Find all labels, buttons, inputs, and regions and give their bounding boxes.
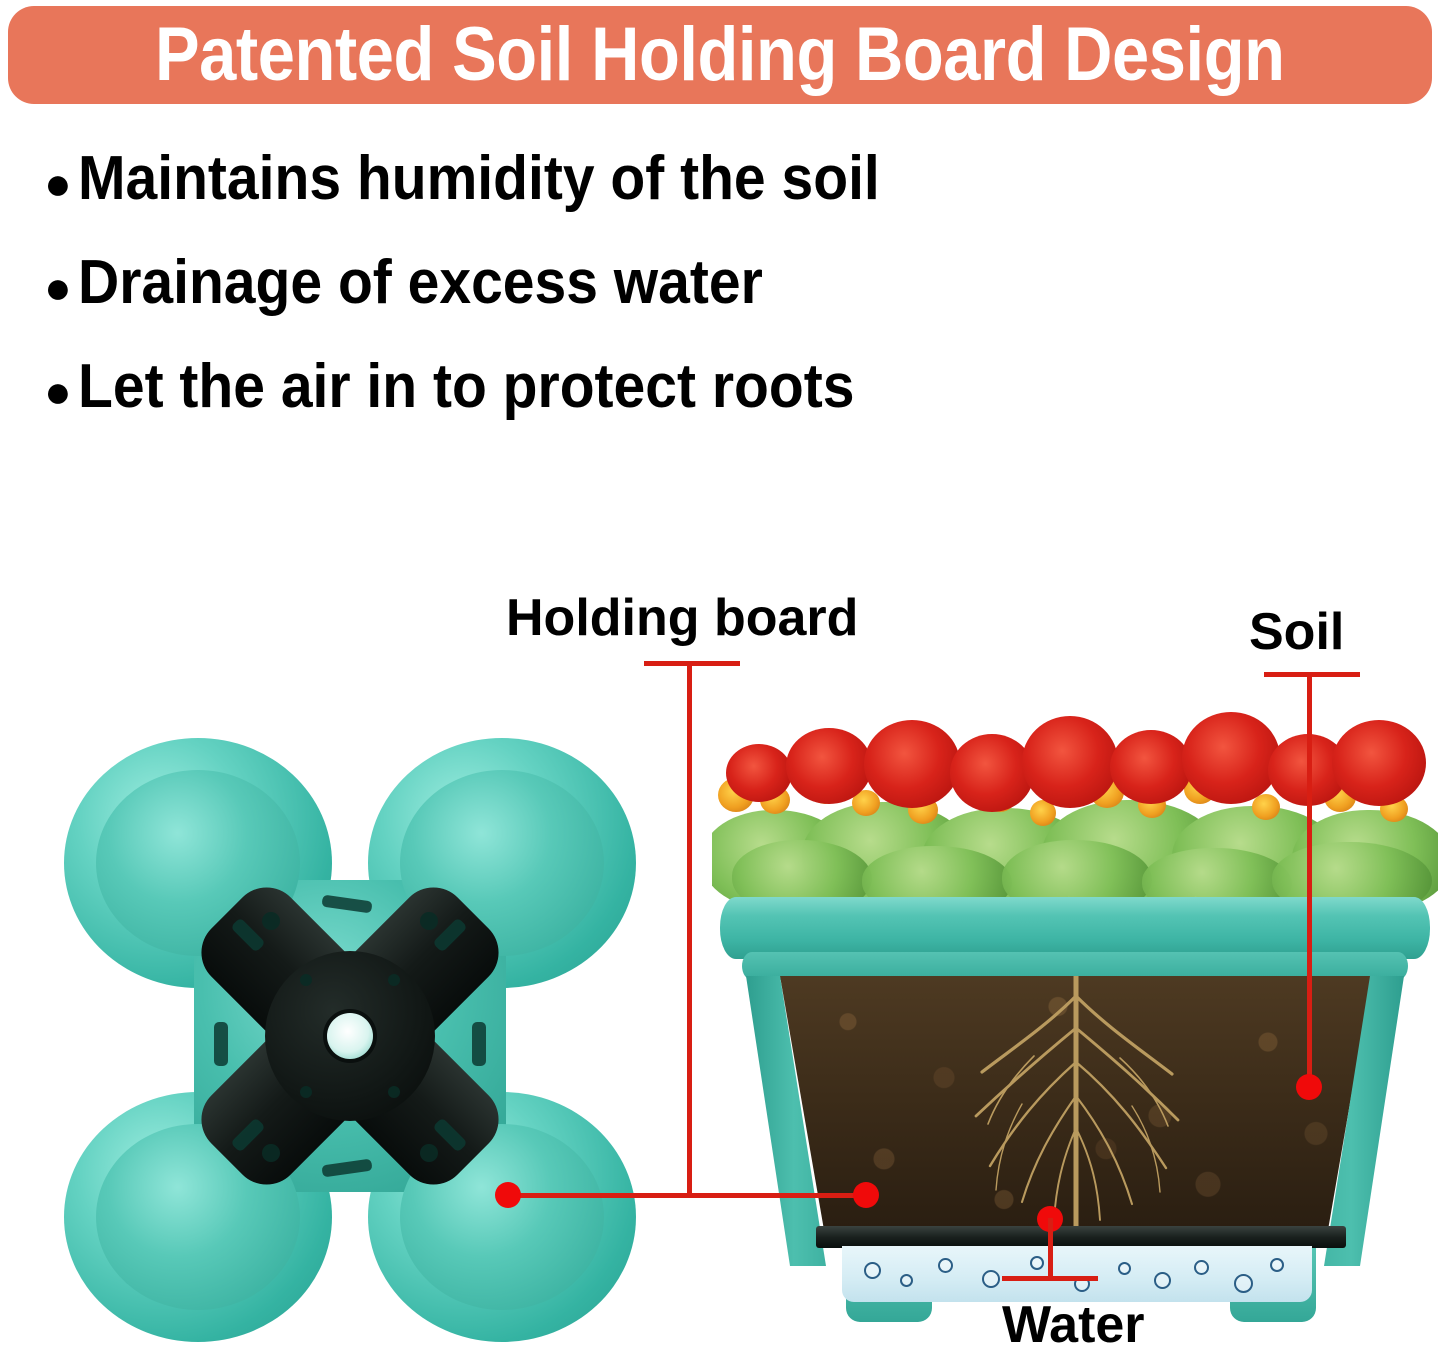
pot-body-cross-section: [746, 976, 1404, 1266]
holding-board-leader-cap: [644, 661, 740, 666]
page-title: Patented Soil Holding Board Design: [155, 17, 1285, 93]
top-view-planter-image: [44, 730, 656, 1350]
water-bubble: [1030, 1256, 1044, 1270]
pot-rim: [720, 897, 1430, 959]
center-drainage-hole-icon: [327, 1013, 373, 1059]
flower-bloom: [1332, 720, 1426, 806]
feature-text: Let the air in to protect roots: [78, 356, 854, 418]
soil-leader-vertical: [1307, 672, 1312, 1083]
drainage-hole: [262, 1144, 280, 1162]
water-bubble: [938, 1258, 953, 1273]
callout-label-soil: Soil: [1249, 602, 1344, 662]
flower-bloom: [1252, 794, 1280, 820]
water-bubble: [982, 1270, 1000, 1288]
cross-section-planter-image: [712, 690, 1438, 1280]
water-bubble: [900, 1274, 913, 1287]
drainage-slot: [472, 1022, 486, 1066]
header-banner: Patented Soil Holding Board Design: [8, 6, 1432, 104]
drainage-hole: [300, 1086, 312, 1098]
drainage-hole: [420, 1144, 438, 1162]
feature-text: Maintains humidity of the soil: [78, 148, 880, 210]
flower-bloom: [726, 744, 792, 802]
flower-bloom: [786, 728, 872, 804]
flower-bloom: [1022, 716, 1118, 808]
water-bubble: [1234, 1274, 1253, 1293]
bullet-icon: ●: [44, 368, 78, 414]
drainage-hole: [388, 1086, 400, 1098]
drainage-hole: [388, 974, 400, 986]
bullet-icon: ●: [44, 160, 78, 206]
water-bubble: [1194, 1260, 1209, 1275]
holding-board-dot-left: [495, 1182, 521, 1208]
water-bubble: [1118, 1262, 1131, 1275]
product-diagram: Holding board Soil Water: [0, 560, 1438, 1369]
holding-board-dot-right: [853, 1182, 879, 1208]
holding-board-part: [170, 856, 530, 1216]
drainage-slot: [214, 1022, 228, 1066]
drainage-slot: [321, 1159, 372, 1178]
drainage-hole: [262, 912, 280, 930]
flower-bloom: [1110, 730, 1192, 804]
soil-leader-cap: [1264, 672, 1360, 677]
callout-label-water: Water: [1002, 1295, 1145, 1355]
callout-label-holding-board: Holding board: [506, 588, 858, 648]
list-item: ● Drainage of excess water: [44, 252, 1144, 356]
holding-board-leader-vertical: [687, 661, 692, 1197]
flower-bloom: [864, 720, 960, 808]
list-item: ● Let the air in to protect roots: [44, 356, 1144, 460]
holding-board-slab: [816, 1226, 1346, 1248]
flower-bloom: [950, 734, 1034, 812]
flower-bloom: [1182, 712, 1280, 804]
water-leader-cap: [1002, 1276, 1098, 1281]
water-bubble: [1270, 1258, 1284, 1272]
flower-bed: [712, 690, 1438, 905]
water-bubble: [1154, 1272, 1171, 1289]
drainage-hole: [300, 974, 312, 986]
bullet-icon: ●: [44, 264, 78, 310]
drainage-hole: [420, 912, 438, 930]
water-bubble: [864, 1262, 881, 1279]
soil-dot: [1296, 1074, 1322, 1100]
list-item: ● Maintains humidity of the soil: [44, 148, 1144, 252]
feature-list: ● Maintains humidity of the soil ● Drain…: [44, 148, 1144, 460]
feature-text: Drainage of excess water: [78, 252, 763, 314]
drainage-slot: [321, 895, 372, 914]
water-leader-vertical: [1048, 1218, 1053, 1280]
holding-board-leader-horizontal: [508, 1193, 866, 1198]
